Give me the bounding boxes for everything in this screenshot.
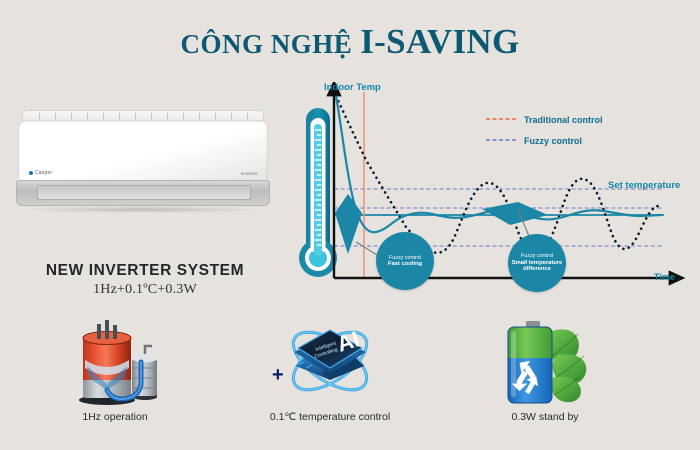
inverter-heading: NEW INVERTER SYSTEM: [0, 262, 290, 280]
air-conditioner-unit: Casper inverter: [16, 110, 270, 208]
feature-row: 1Hz operation +: [0, 315, 700, 450]
title-prefix: CÔNG NGHỆ: [180, 29, 352, 59]
eco-battery-icon: [450, 315, 640, 407]
callout-small-difference: Fuzzy control Small temperature differen…: [508, 234, 566, 292]
y-axis-label: Indoor Temp: [324, 82, 381, 93]
compressor-icon: [20, 315, 210, 407]
ai-chip-icon: AI Intelligent Controlling: [235, 315, 425, 407]
poster-canvas: CÔNG NGHỆI-SAVING Casper inverter NEW IN…: [0, 0, 700, 450]
page-title: CÔNG NGHỆI-SAVING: [0, 22, 700, 62]
ac-brand-logo: Casper: [29, 170, 52, 176]
set-temperature-label: Set temperature: [608, 180, 680, 191]
feature-caption-compressor: 1Hz operation: [20, 411, 210, 423]
ac-model-mark: inverter: [241, 171, 258, 176]
logo-mark-icon: [29, 171, 33, 175]
feature-caption-eco-battery: 0.3W stand by: [450, 411, 640, 423]
ac-air-outlet: [37, 185, 251, 200]
temperature-control-chart: Indoor Temp Time Set temperature Traditi…: [286, 82, 696, 297]
ac-drop-shadow: [20, 206, 264, 213]
callout2-line2b: difference: [523, 266, 551, 272]
callout-fast-cooling: Fuzzy control Fast cooling: [376, 232, 434, 290]
legend-label-traditional: Traditional control: [524, 115, 603, 125]
ac-brand-text: Casper: [35, 170, 52, 176]
ac-front-panel: Casper inverter: [18, 120, 268, 182]
legend-label-fuzzy: Fuzzy control: [524, 136, 582, 146]
title-main: I-SAVING: [360, 22, 519, 61]
fast-cooling-diamond: [335, 194, 362, 254]
callout1-line2: Fast cooling: [388, 261, 422, 267]
inverter-spec: 1Hz+0.1ºC+0.3W: [0, 282, 290, 298]
small-diff-diamond: [482, 202, 548, 225]
feature-caption-ai-chip: 0.1℃ temperature control: [235, 411, 425, 423]
traditional-control-curve: [336, 96, 658, 254]
ac-bottom-bezel: [16, 180, 270, 206]
x-axis-label: Time: [654, 272, 675, 282]
